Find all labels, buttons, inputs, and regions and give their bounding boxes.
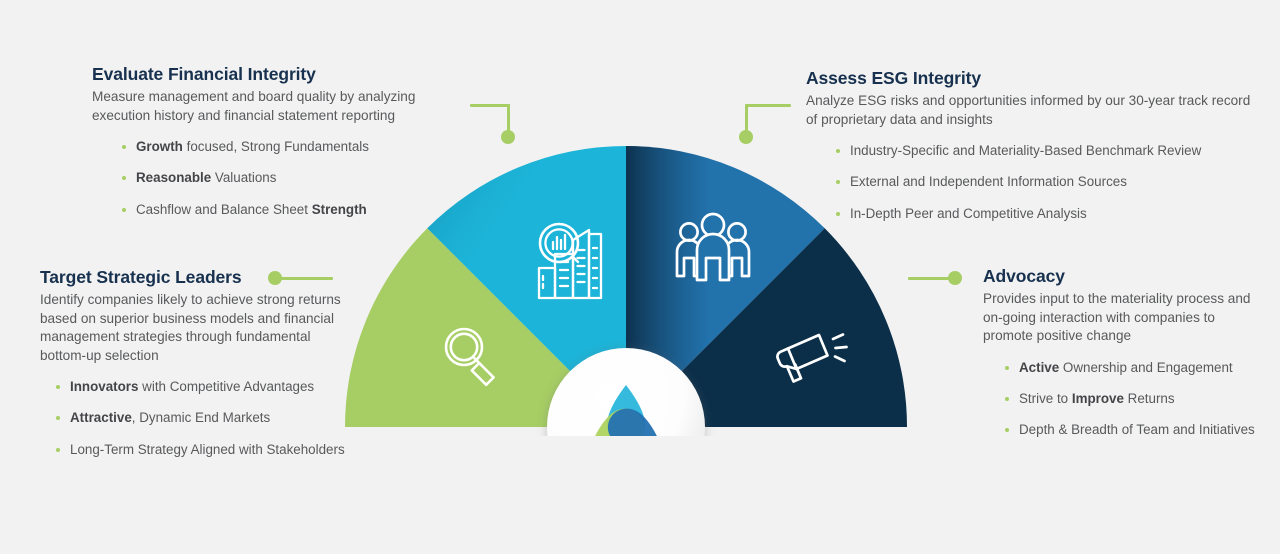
list-item: Active Ownership and Engagement [1003,359,1255,377]
heading-target-strategic-leaders: Target Strategic Leaders [40,267,242,287]
block-assess-esg-integrity: Assess ESG Integrity Analyze ESG risks a… [806,68,1254,223]
list-item: Strive to Improve Returns [1003,390,1255,408]
block-evaluate-financial-integrity: Evaluate Financial Integrity Measure man… [92,64,462,219]
list-item: Depth & Breadth of Team and Initiatives [1003,421,1255,439]
infographic-canvas: Evaluate Financial Integrity Measure man… [0,0,1280,554]
connector-financial-horizontal [470,104,510,107]
connector-financial-dot [501,130,515,144]
list-item: In-Depth Peer and Competitive Analysis [834,205,1254,223]
block-advocacy: Advocacy Provides input to the materiali… [983,266,1255,440]
lede-target-strategic-leaders: Identify companies likely to achieve str… [40,291,352,365]
list-item: Long-Term Strategy Aligned with Stakehol… [54,441,352,459]
lede-advocacy: Provides input to the materiality proces… [983,290,1255,345]
lede-evaluate-financial-integrity: Measure management and board quality by … [92,88,462,125]
lede-assess-esg-integrity: Analyze ESG risks and opportunities info… [806,92,1254,129]
bullets-advocacy: Active Ownership and Engagement Strive t… [1003,359,1255,440]
block-target-strategic-leaders: Target Strategic Leaders Identify compan… [40,267,352,459]
bullets-target-strategic-leaders: Innovators with Competitive Advantages A… [54,378,352,459]
heading-advocacy: Advocacy [983,266,1065,286]
list-item: Cashflow and Balance Sheet Strength [120,201,462,219]
bullets-evaluate-financial-integrity: Growth focused, Strong Fundamentals Reas… [120,138,462,219]
list-item: Reasonable Valuations [120,169,462,187]
bullets-assess-esg-integrity: Industry-Specific and Materiality-Based … [834,142,1254,223]
list-item: Attractive, Dynamic End Markets [54,409,352,427]
connector-esg-horizontal [746,104,791,107]
connector-esg-dot [739,130,753,144]
list-item: External and Independent Information Sou… [834,173,1254,191]
connector-advocacy-dot [948,271,962,285]
heading-evaluate-financial-integrity: Evaluate Financial Integrity [92,64,462,84]
list-item: Industry-Specific and Materiality-Based … [834,142,1254,160]
list-item: Innovators with Competitive Advantages [54,378,352,396]
heading-assess-esg-integrity: Assess ESG Integrity [806,68,1254,88]
list-item: Growth focused, Strong Fundamentals [120,138,462,156]
